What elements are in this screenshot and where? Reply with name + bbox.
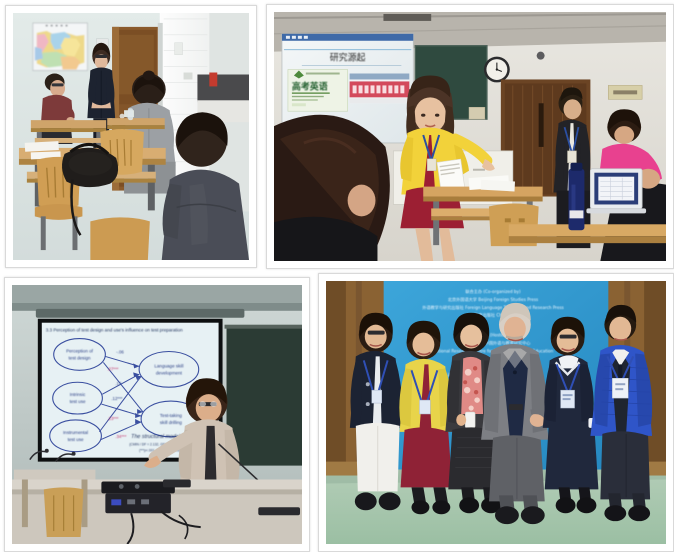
photo-mat: 联合主办 (Co-organized by) 北京外国语大学 Beijing F… xyxy=(326,281,666,544)
photo-conference-group: 联合主办 (Co-organized by) 北京外国语大学 Beijing F… xyxy=(326,281,666,544)
svg-text:外语教学与研究出版社 Foreign Language Te: 外语教学与研究出版社 Foreign Language Teaching and… xyxy=(422,304,564,310)
photo-lecture-yellow-jacket: 研究源起 高考英语 xyxy=(274,12,666,261)
svg-text:test use: test use xyxy=(68,437,84,442)
svg-text:test use: test use xyxy=(70,399,86,404)
svg-text:Instrumental: Instrumental xyxy=(63,430,88,435)
svg-text:development: development xyxy=(156,370,183,375)
photo-collage: Classroom with standing presenter and se… xyxy=(0,0,674,552)
photo-frame-bottom-left[interactable]: 3.3 Perception of test design and use's … xyxy=(4,277,310,552)
photo-frame-top-right[interactable]: 研究源起 高考英语 xyxy=(266,4,674,269)
svg-text:.27***: .27*** xyxy=(107,366,118,371)
svg-text:test design: test design xyxy=(69,355,91,360)
svg-text:.17: .17 xyxy=(115,381,122,386)
photo-mat: 3.3 Perception of test design and use's … xyxy=(12,285,302,544)
svg-text:skill drilling: skill drilling xyxy=(160,420,182,425)
photo-mat xyxy=(13,13,249,260)
svg-text:Intrinsic: Intrinsic xyxy=(70,392,86,397)
svg-text:北京外国语大学 Beijing Foreign Studie: 北京外国语大学 Beijing Foreign Studies Press xyxy=(448,296,538,302)
svg-text:.34***: .34*** xyxy=(115,434,126,439)
svg-text:.23***: .23*** xyxy=(107,416,118,421)
svg-text:Perception of: Perception of xyxy=(66,348,94,353)
svg-text:.12***: .12*** xyxy=(111,396,122,401)
photo-frame-bottom-right[interactable]: 联合主办 (Co-organized by) 北京外国语大学 Beijing F… xyxy=(318,273,674,552)
svg-text:高考英语: 高考英语 xyxy=(292,80,328,92)
svg-text:研究源起: 研究源起 xyxy=(330,52,366,64)
svg-text:Language skill: Language skill xyxy=(154,363,183,368)
photo-classroom-presenter xyxy=(13,13,249,260)
svg-text:-.06: -.06 xyxy=(116,349,124,354)
svg-text:Test-taking: Test-taking xyxy=(160,413,182,418)
svg-text:联合主办 (Co-organized by): 联合主办 (Co-organized by) xyxy=(465,288,521,294)
photo-mat: 研究源起 高考英语 xyxy=(274,12,666,261)
photo-frame-top-left[interactable]: Classroom with standing presenter and se… xyxy=(5,5,257,268)
svg-text:3.3 Perception of test design: 3.3 Perception of test design and use's … xyxy=(46,328,183,333)
photo-sem-model-slide: 3.3 Perception of test design and use's … xyxy=(12,285,302,544)
